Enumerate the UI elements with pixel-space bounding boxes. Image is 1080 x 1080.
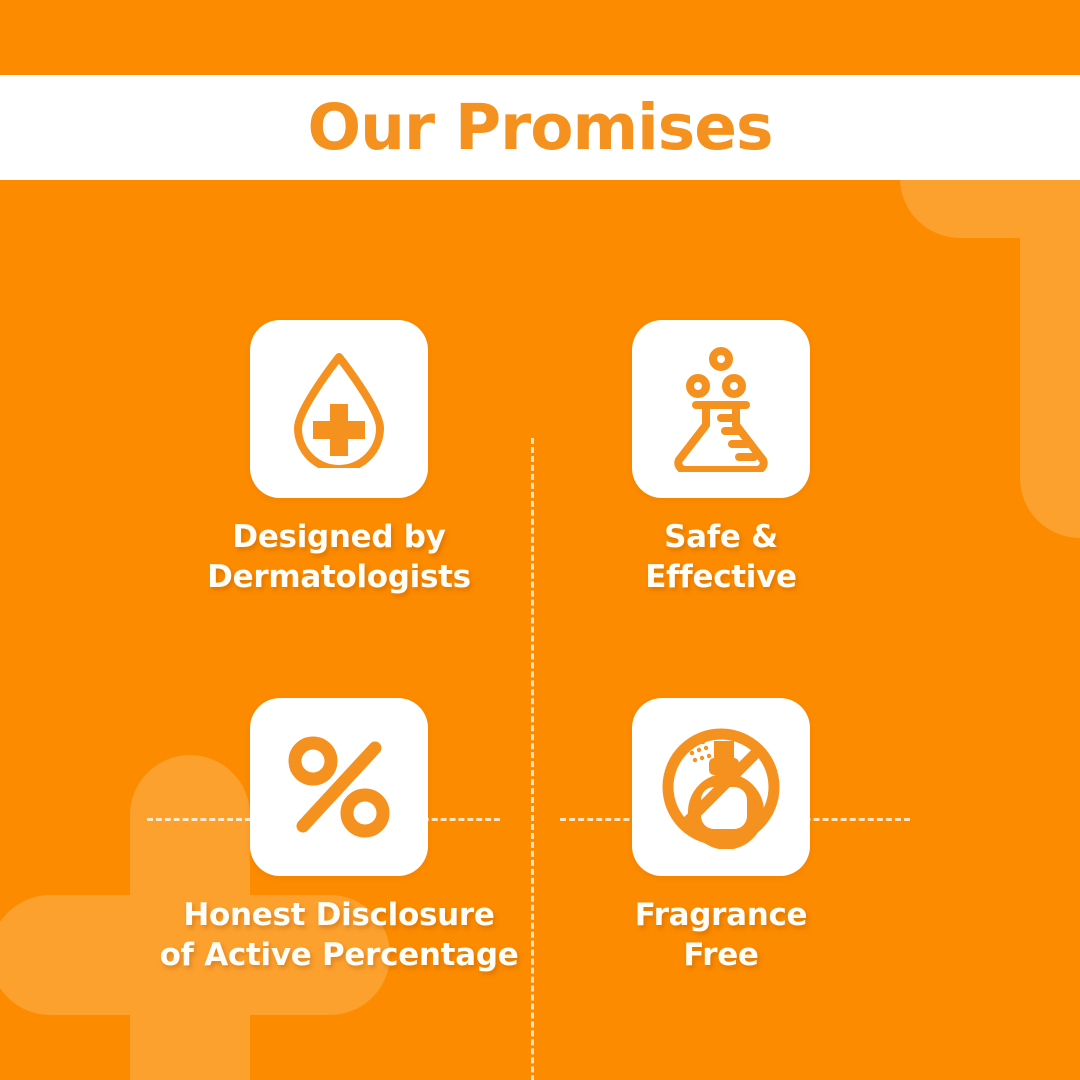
percent-icon [284,732,394,842]
promises-grid: Designed by Dermatologists [0,180,1080,1080]
promise-label: Designed by Dermatologists [207,518,471,597]
promise-icon-card [250,320,428,498]
promise-item-fragrance-free[interactable]: Fragrance Free [481,698,961,1080]
promise-label: Safe & Effective [645,518,797,597]
top-orange-band [0,0,1080,75]
page-title: Our Promises [308,96,773,159]
no-fragrance-icon [659,725,783,849]
promise-icon-card [632,320,810,498]
header-bar: Our Promises [0,75,1080,180]
flask-bubbles-icon [662,346,780,472]
droplet-plus-icon [280,350,398,468]
promise-label: Honest Disclosure of Active Percentage [160,896,519,975]
promise-icon-card [250,698,428,876]
promises-infographic: Our Promises Designed by Dermatologists [0,0,1080,1080]
promise-item-safe-and-effective[interactable]: Safe & Effective [481,320,961,720]
promise-label: Fragrance Free [635,896,808,975]
promise-icon-card [632,698,810,876]
